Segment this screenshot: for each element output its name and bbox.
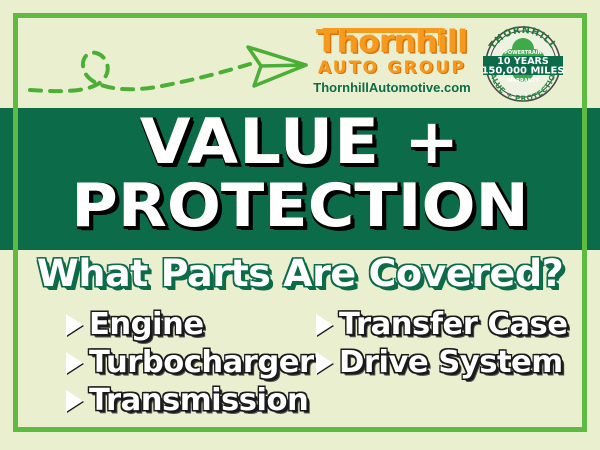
part-label: Transfer Case xyxy=(339,309,568,341)
part-label: Turbocharger xyxy=(89,347,314,379)
part-label: Engine xyxy=(89,309,204,341)
logo-brand-name: Thornhill xyxy=(312,25,472,59)
logo-sub-brand: AUTO GROUP xyxy=(312,59,472,78)
covered-parts-lists: Engine Turbocharger Transmission Transfe… xyxy=(0,306,600,421)
part-label: Drive System xyxy=(339,347,563,379)
covered-parts-column-right: Transfer Case Drive System xyxy=(308,306,600,382)
triangle-bullet-icon xyxy=(66,314,83,336)
list-item: Engine xyxy=(66,306,308,344)
seal-miles-text: 150,000 MILES xyxy=(481,66,564,77)
subtitle-question: What Parts Are Covered? xyxy=(0,252,600,296)
thornhill-logo: Thornhill AUTO GROUP ThornhillAutomotive… xyxy=(312,25,472,105)
advertisement-banner: Thornhill AUTO GROUP ThornhillAutomotive… xyxy=(0,0,600,450)
headline-line-1: VALUE + xyxy=(0,110,600,174)
headline-line-2: PROTECTION xyxy=(0,174,600,238)
part-label: Transmission xyxy=(89,385,308,417)
list-item: Transfer Case xyxy=(316,306,600,344)
warranty-seal-badge: THORNHILL VALUE + PROTECTION POWERTRAIN … xyxy=(479,25,567,103)
triangle-bullet-icon xyxy=(316,352,333,374)
dashed-looping-arrow-icon xyxy=(22,22,312,110)
list-item: Drive System xyxy=(316,344,600,382)
triangle-bullet-icon xyxy=(66,352,83,374)
list-item: Transmission xyxy=(66,382,308,420)
list-item: Turbocharger xyxy=(66,344,308,382)
logo-website-url: ThornhillAutomotive.com xyxy=(312,80,472,95)
triangle-bullet-icon xyxy=(316,314,333,336)
covered-parts-column-left: Engine Turbocharger Transmission xyxy=(0,306,308,420)
seal-warranty-label: WARRANTY xyxy=(507,78,539,84)
triangle-bullet-icon xyxy=(66,390,83,412)
headline: VALUE + PROTECTION xyxy=(0,110,600,238)
